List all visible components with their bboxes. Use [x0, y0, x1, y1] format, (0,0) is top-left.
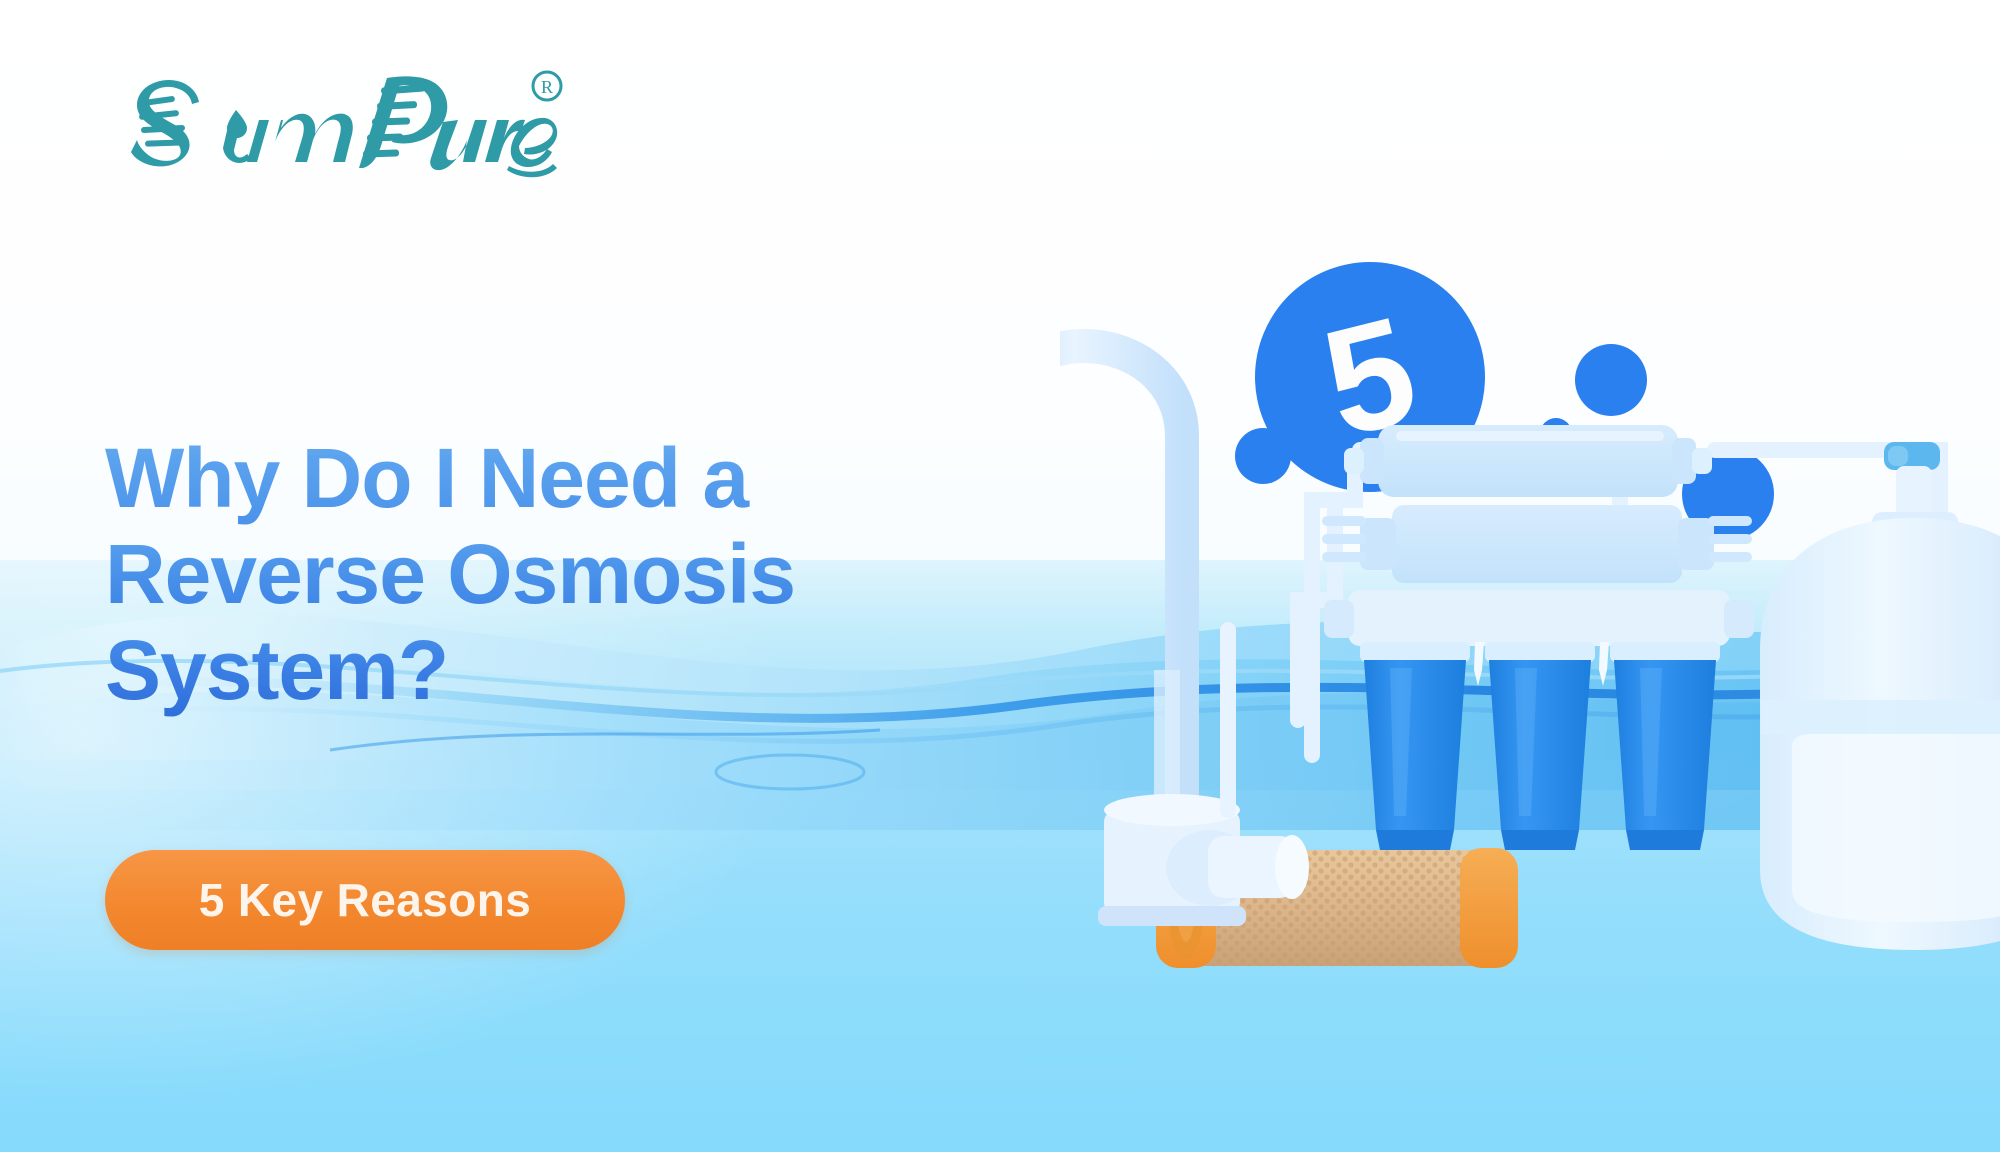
faucet — [1060, 346, 1309, 926]
brand-logo[interactable]: R — [95, 62, 565, 182]
badge-label: 5 Key Reasons — [199, 873, 531, 927]
manifold-bar — [1348, 590, 1730, 646]
ro-membrane-housing — [1344, 425, 1712, 497]
registered-trademark-icon: R — [533, 72, 561, 100]
reverse-osmosis-illustration — [1060, 250, 2000, 1010]
filter-housing-group — [1360, 642, 1720, 850]
filter-housing-2 — [1485, 642, 1595, 850]
ro-membrane-housing-lower — [1322, 505, 1752, 583]
headline-line-3: System? — [105, 622, 1025, 718]
promo-banner: R Why Do I Need a Reverse Osmosis System… — [0, 0, 2000, 1152]
key-reasons-badge[interactable]: 5 Key Reasons — [105, 850, 625, 950]
headline-line-1: Why Do I Need a — [105, 430, 1025, 526]
filter-housing-1 — [1360, 642, 1470, 850]
pressure-tank — [1760, 442, 2000, 950]
svg-text:R: R — [541, 77, 553, 97]
page-title: Why Do I Need a Reverse Osmosis System? — [105, 430, 1025, 719]
simpure-wordmark-icon: R — [95, 62, 565, 182]
filter-housing-3 — [1610, 642, 1720, 850]
headline-line-2: Reverse Osmosis — [105, 526, 1025, 622]
